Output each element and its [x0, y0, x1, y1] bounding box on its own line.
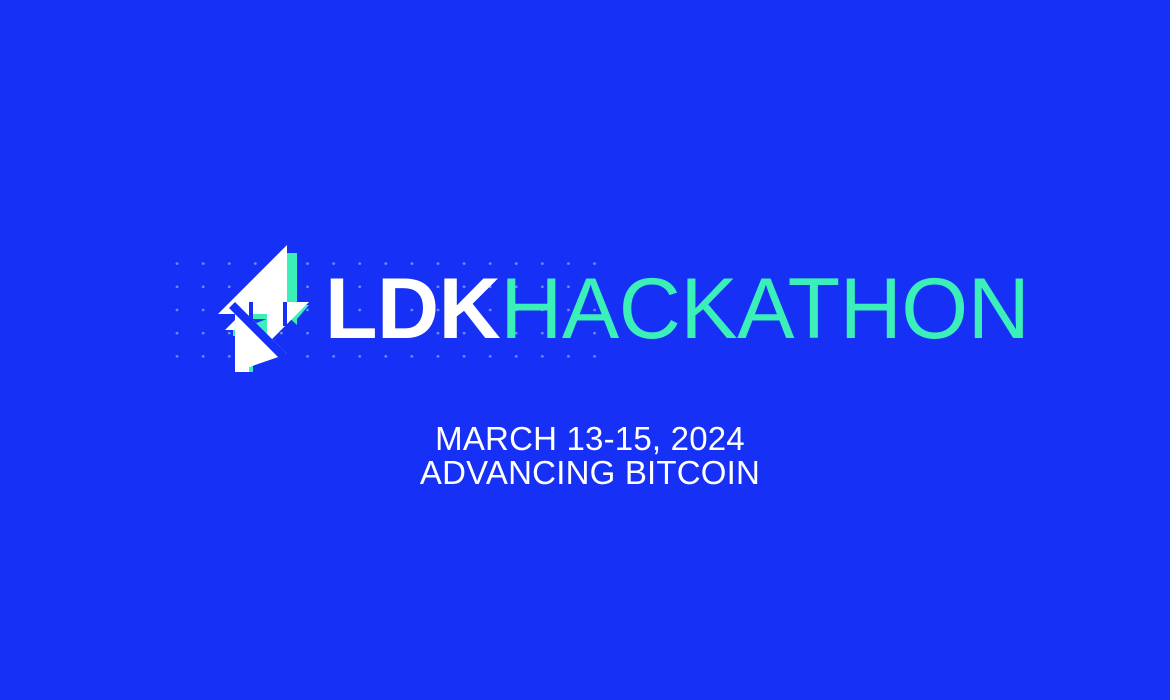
event-dates: MARCH 13-15, 2024	[0, 422, 1170, 456]
event-banner: LDKHACKATHON MARCH 13-15, 2024 ADVANCING…	[0, 0, 1170, 700]
wordmark: LDKHACKATHON	[325, 232, 1029, 387]
wordmark-ldk: LDK	[325, 261, 500, 357]
event-name: ADVANCING BITCOIN	[0, 456, 1170, 490]
logo-lockup: LDKHACKATHON	[0, 232, 1170, 387]
event-details: MARCH 13-15, 2024 ADVANCING BITCOIN	[0, 422, 1170, 490]
wordmark-hackathon: HACKATHON	[500, 261, 1029, 357]
ldk-lightning-mark-icon	[205, 240, 317, 378]
